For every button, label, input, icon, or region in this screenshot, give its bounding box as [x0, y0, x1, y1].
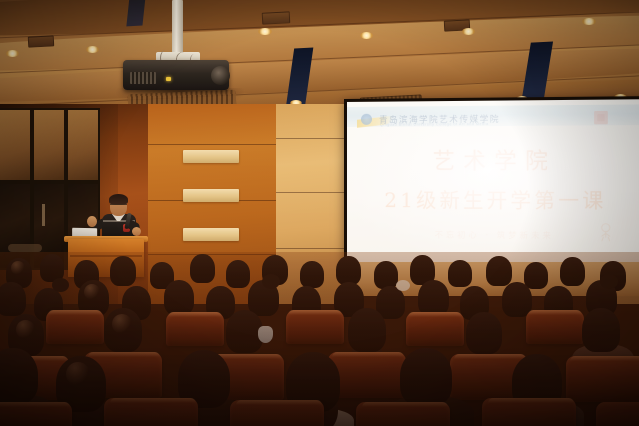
hair-bun: [52, 278, 69, 292]
audience-head: [0, 282, 26, 316]
window-reflection: [42, 204, 45, 226]
audience-head: [164, 280, 194, 315]
slide-header-band: 青岛滨海学院艺术传媒学院 Qingdao Binhai University C…: [347, 104, 639, 127]
hair-bun: [600, 274, 618, 289]
audience-head: [466, 312, 502, 354]
hair-highlight: [66, 362, 90, 386]
seat-highlight: [454, 354, 526, 359]
audience-head: [226, 260, 250, 288]
projector-status-led: [166, 77, 171, 81]
seat-highlight: [408, 312, 462, 317]
seated-audience: [0, 252, 639, 426]
wall-seam: [276, 248, 352, 249]
hair-highlight: [11, 261, 25, 275]
audience-head: [300, 261, 324, 288]
audience-head: [448, 260, 472, 287]
glasses-icon: [110, 204, 127, 209]
projection-screen: 青岛滨海学院艺术传媒学院 Qingdao Binhai University C…: [344, 96, 639, 271]
hair-highlight: [112, 314, 132, 334]
hair-highlight: [84, 284, 100, 300]
audience-head: [524, 262, 548, 289]
acoustic-wall-panel: [183, 189, 239, 202]
audience-head: [582, 308, 620, 352]
projector-lens: [211, 66, 230, 85]
audience-head: [418, 280, 449, 316]
wall-seam: [276, 192, 352, 193]
presenter-left-hand: [87, 216, 97, 227]
auditorium-seat: [596, 402, 639, 426]
ceiling-downlight: [258, 28, 272, 35]
seat-highlight: [236, 400, 322, 405]
auditorium-seat: [166, 312, 224, 346]
audience-head: [400, 348, 452, 406]
audience-head: [560, 257, 585, 286]
seat-highlight: [528, 310, 582, 315]
audience-head: [110, 256, 136, 286]
slide-title: 艺术学院: [347, 143, 639, 176]
auditorium-seat: [406, 312, 464, 346]
slide-institution-name-en: Qingdao Binhai University College of Art…: [380, 122, 489, 127]
window-pane: [32, 108, 66, 182]
projector-vent: [130, 72, 156, 84]
auditorium-seat: [526, 310, 584, 344]
slide-subtitle: 21级新生开学第一课: [347, 184, 639, 214]
audience-head: [190, 254, 215, 283]
air-vent: [262, 11, 291, 24]
wall-seam: [276, 138, 352, 139]
acoustic-wall-panel: [183, 150, 239, 163]
ceiling-downlight: [6, 50, 19, 57]
seat-highlight: [168, 312, 222, 317]
hair-highlight: [16, 320, 35, 339]
seat-highlight: [48, 310, 102, 315]
seat-highlight: [88, 352, 160, 357]
university-seal-logo: [361, 114, 372, 125]
window-pane: [66, 108, 100, 182]
slide-corner-logo: [594, 111, 608, 124]
hair-bun: [262, 274, 280, 289]
ceiling-downlight: [86, 46, 99, 53]
seat-highlight: [0, 402, 70, 407]
ceiling-downlight: [360, 32, 373, 39]
projected-slide: 青岛滨海学院艺术传媒学院 Qingdao Binhai University C…: [347, 99, 639, 268]
seat-highlight: [288, 310, 342, 315]
seat-highlight: [332, 352, 404, 357]
line-art-figure-doodle: [595, 221, 618, 244]
window-pane: [0, 108, 32, 182]
air-vent: [28, 35, 55, 47]
auditorium-seat: [566, 356, 639, 402]
seat-highlight: [570, 356, 639, 361]
audience-head: [348, 308, 386, 352]
seat-highlight: [362, 402, 448, 407]
audience-head: [486, 256, 512, 286]
audience-head: [502, 282, 532, 317]
auditorium-photo: 青岛滨海学院艺术传媒学院 Qingdao Binhai University C…: [0, 0, 639, 426]
ceiling-downlight: [462, 28, 475, 35]
face-mask: [258, 326, 273, 343]
ceiling-accent-strip: [126, 0, 145, 26]
audience-head: [336, 256, 361, 285]
hair-scrunchie: [396, 280, 410, 291]
ceiling-downlight: [582, 18, 596, 25]
auditorium-seat: [46, 310, 104, 344]
presenter-right-hand: [132, 227, 141, 236]
audience-head: [374, 261, 398, 289]
seat-highlight: [488, 398, 574, 403]
auditorium-seat: [286, 310, 344, 344]
window-reflection: [8, 244, 42, 252]
projector-mount-pole: [172, 0, 183, 58]
acoustic-wall-panel: [183, 228, 239, 241]
seat-highlight: [110, 398, 196, 403]
